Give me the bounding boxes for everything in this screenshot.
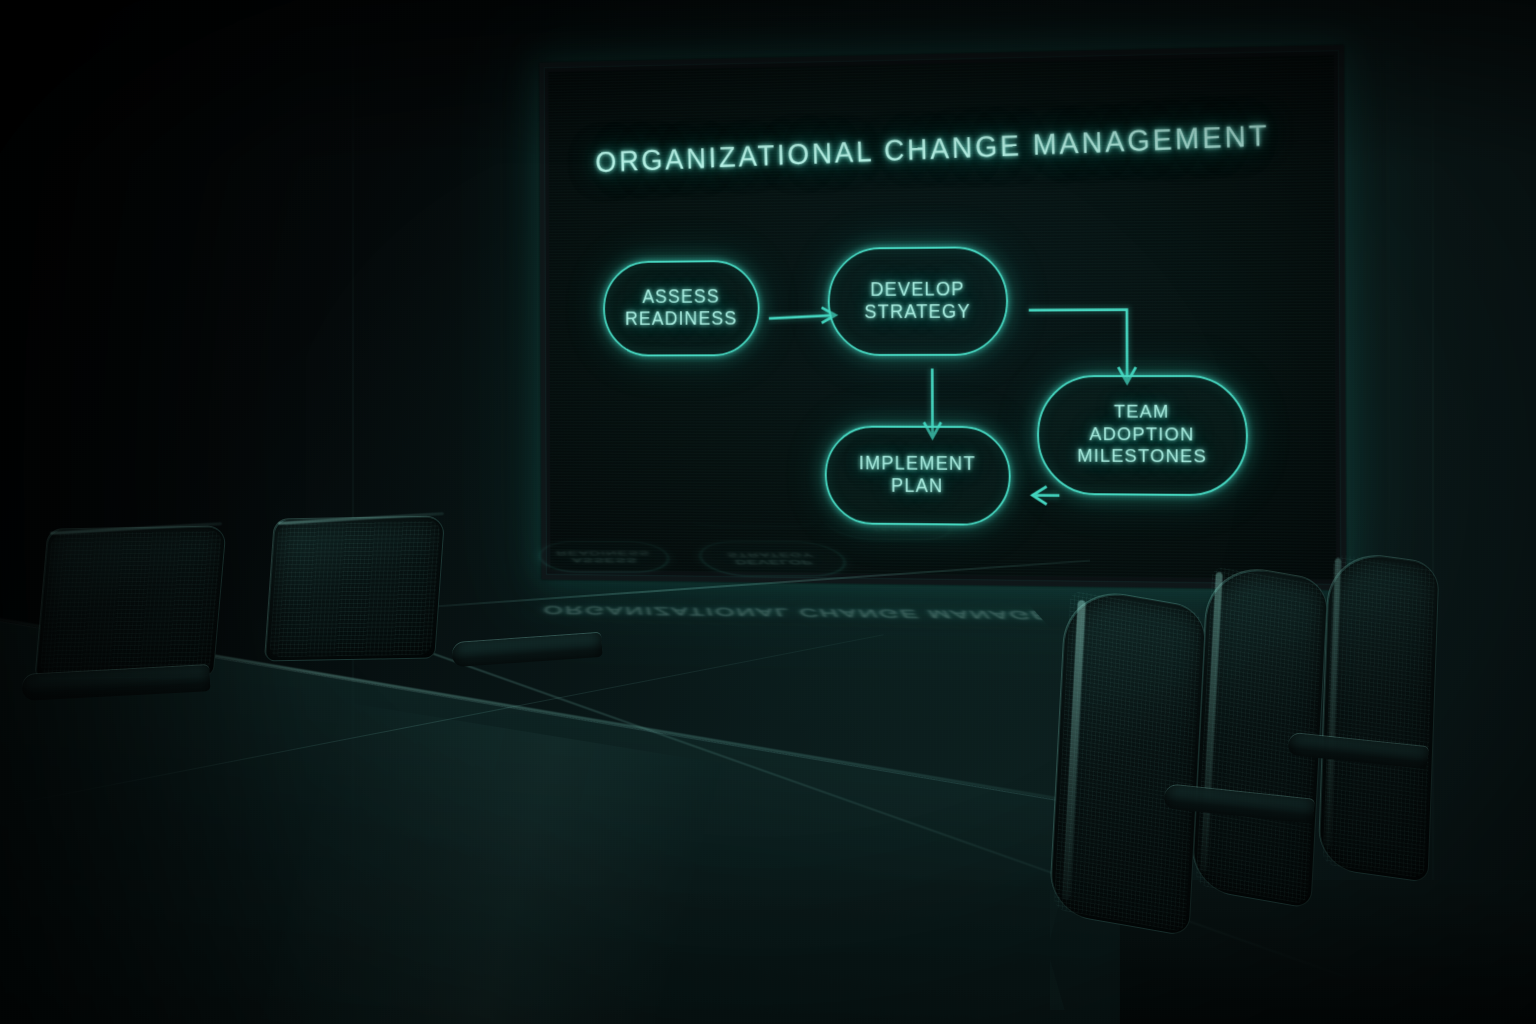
screen-surface: ORGANIZATIONAL CHANGE MANAGEMENT	[548, 55, 1336, 580]
node-line: PLAN	[859, 475, 976, 499]
office-chair-left-2	[252, 518, 467, 738]
node-line: IMPLEMENT	[859, 452, 976, 475]
flow-node-team-adoption-milestones[interactable]: TEAM ADOPTION MILESTONES	[1037, 375, 1248, 496]
flow-node-implement-plan[interactable]: IMPLEMENT PLAN	[825, 426, 1011, 526]
chair-backrest	[265, 517, 445, 662]
conference-room-scene: ORGANIZATIONAL CHANGE MANAGEMENT	[0, 0, 1536, 1024]
chair-armrest	[451, 633, 602, 667]
node-line: ASSESS	[625, 286, 737, 309]
connector-strategy-to-team	[1029, 310, 1127, 381]
slide-canvas: ORGANIZATIONAL CHANGE MANAGEMENT	[548, 55, 1336, 580]
screen-bezel: ORGANIZATIONAL CHANGE MANAGEMENT	[539, 45, 1346, 590]
node-line: MILESTONES	[1077, 446, 1207, 469]
office-chair-right-1	[1048, 596, 1288, 996]
flow-node-assess-readiness[interactable]: ASSESS READINESS	[603, 260, 760, 357]
node-line: ADOPTION	[1077, 424, 1207, 447]
node-line: STRATEGY	[864, 301, 970, 324]
projection-screen[interactable]: ORGANIZATIONAL CHANGE MANAGEMENT	[539, 45, 1346, 590]
node-line: DEVELOP	[864, 278, 970, 301]
flow-node-develop-strategy[interactable]: DEVELOP STRATEGY	[828, 246, 1009, 356]
chair-backrest	[35, 526, 226, 679]
node-line: TEAM	[1077, 402, 1207, 425]
node-line: READINESS	[625, 308, 737, 331]
office-chair-left-1	[22, 528, 237, 758]
